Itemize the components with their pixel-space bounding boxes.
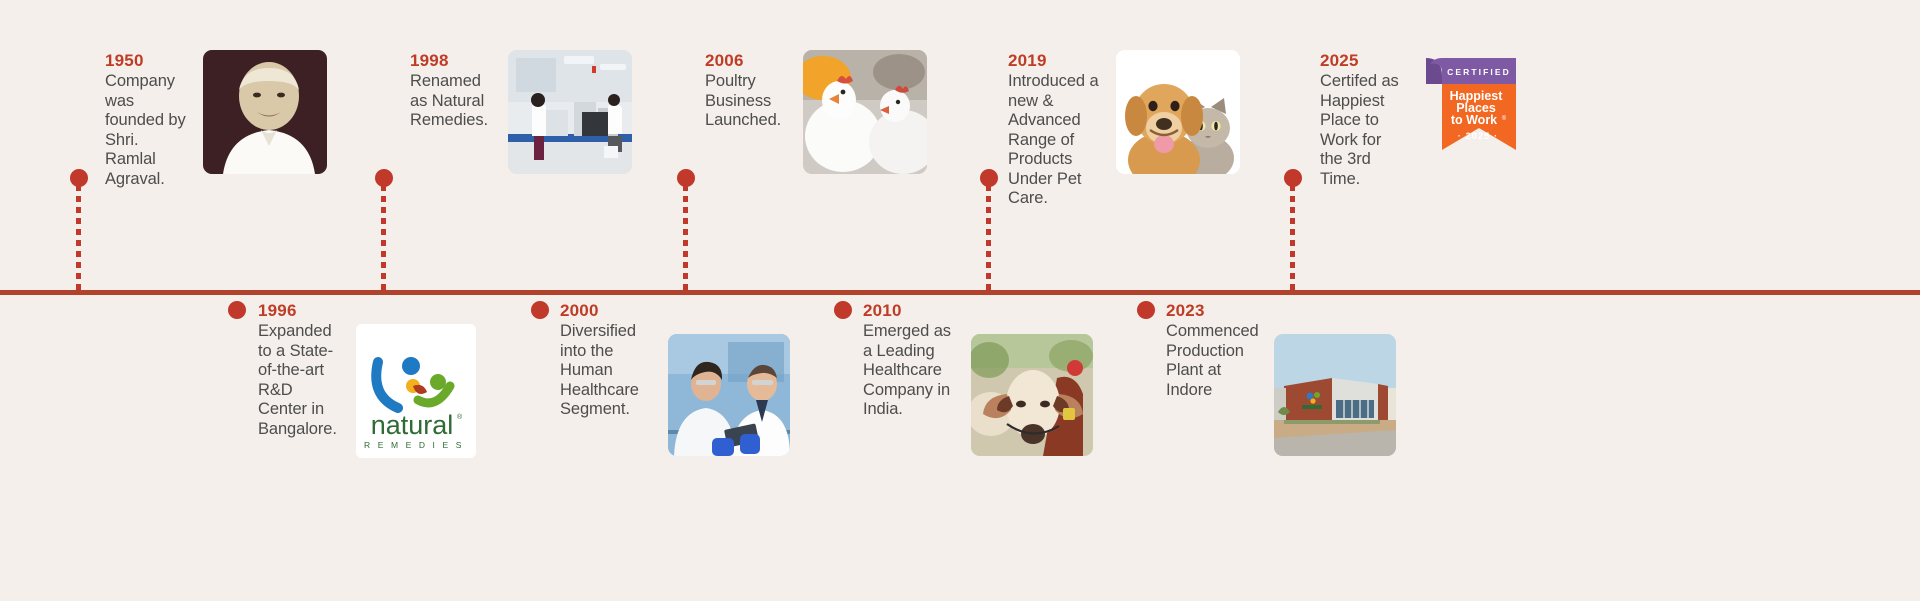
cattle-photo-image <box>971 334 1093 456</box>
milestone-2023-year: 2023 <box>1166 300 1262 321</box>
milestone-2000-year: 2000 <box>560 300 656 321</box>
timeline-dot-1996 <box>228 301 246 319</box>
milestone-1998-description: Renamed as Natural Remedies. <box>410 72 496 131</box>
natural-remedies-logo: natural ® R E M E D I E S <box>356 324 476 458</box>
milestone-2010[interactable]: 2010 Emerged as a Leading Healthcare Com… <box>863 300 1093 456</box>
logo-blue-dot <box>402 357 420 375</box>
timeline-stem-1998 <box>381 185 386 292</box>
timeline-dot-2010 <box>834 301 852 319</box>
milestone-1998[interactable]: 1998 Renamed as Natural Remedies. <box>410 50 632 174</box>
milestone-1996-year: 1996 <box>258 300 344 321</box>
timeline-stem-2025 <box>1290 185 1295 292</box>
milestone-2019-year: 2019 <box>1008 50 1104 71</box>
milestone-2006-description: Poultry Business Launched. <box>705 72 791 131</box>
milestone-1996-text: 1996 Expanded to a State-of-the-art R&D … <box>258 300 344 439</box>
milestone-1950-year: 1950 <box>105 50 191 71</box>
milestone-1996[interactable]: 1996 Expanded to a State-of-the-art R&D … <box>258 300 476 458</box>
milestone-2006-text: 2006 Poultry Business Launched. <box>705 50 791 131</box>
milestone-2000-text: 2000 Diversified into the Human Healthca… <box>560 300 656 420</box>
timeline-connector-2010 <box>834 295 852 319</box>
pets-photo-image <box>1116 50 1240 174</box>
logo-green-dot <box>430 374 446 390</box>
timeline-stem-1950 <box>76 185 81 292</box>
badge-year-label: · 2025 · <box>1458 131 1499 141</box>
milestone-2006-year: 2006 <box>705 50 791 71</box>
logo-wordmark: natural <box>371 410 454 440</box>
logo-registered-mark: ® <box>457 413 463 421</box>
portrait-founder-image <box>203 50 327 174</box>
milestone-2000-description: Diversified into the Human Healthcare Se… <box>560 322 656 420</box>
timeline-connector-1996 <box>228 295 246 319</box>
milestone-1998-year: 1998 <box>410 50 496 71</box>
laboratory-photo-image <box>508 50 632 174</box>
milestone-2019[interactable]: 2019 Introduced a new & Advanced Range o… <box>1008 50 1240 209</box>
milestone-2000[interactable]: 2000 Diversified into the Human Healthca… <box>560 300 790 456</box>
plant-building-photo-image <box>1274 334 1396 456</box>
logo-subtitle: R E M E D I E S <box>364 440 464 450</box>
milestone-2019-description: Introduced a new & Advanced Range of Pro… <box>1008 72 1104 209</box>
timeline-connector-2000 <box>531 295 549 319</box>
milestone-2023[interactable]: 2023 Commenced Production Plant at Indor… <box>1166 300 1396 456</box>
milestone-2010-description: Emerged as a Leading Healthcare Company … <box>863 322 959 420</box>
milestone-1950-description: Company was founded by Shri. Ramlal Agra… <box>105 72 191 189</box>
milestone-2019-text: 2019 Introduced a new & Advanced Range o… <box>1008 50 1104 209</box>
milestone-1950[interactable]: 1950 Company was founded by Shri. Ramlal… <box>105 50 327 189</box>
timeline-stem-2019 <box>986 185 991 292</box>
milestone-2023-text: 2023 Commenced Production Plant at Indor… <box>1166 300 1262 400</box>
timeline-connector-2023 <box>1137 295 1155 319</box>
badge-line3: to Work <box>1451 113 1497 127</box>
timeline-dot-2023 <box>1137 301 1155 319</box>
milestone-2025[interactable]: 2025 Certifed as Happiest Place to Work … <box>1320 50 1522 189</box>
milestone-1996-description: Expanded to a State-of-the-art R&D Cente… <box>258 322 344 439</box>
milestone-1950-text: 1950 Company was founded by Shri. Ramlal… <box>105 50 191 189</box>
happiest-places-badge: CERTIFIED Happiest Places to Work ® · 20… <box>1418 50 1522 172</box>
milestone-2023-description: Commenced Production Plant at Indore <box>1166 322 1262 400</box>
milestone-1998-text: 1998 Renamed as Natural Remedies. <box>410 50 496 131</box>
milestone-2006[interactable]: 2006 Poultry Business Launched. <box>705 50 927 174</box>
milestone-2025-description: Certifed as Happiest Place to Work for t… <box>1320 72 1406 189</box>
timeline-infographic: 1950 Company was founded by Shri. Ramlal… <box>0 0 1920 601</box>
milestone-2025-year: 2025 <box>1320 50 1406 71</box>
milestone-2010-text: 2010 Emerged as a Leading Healthcare Com… <box>863 300 959 420</box>
badge-certified-label: CERTIFIED <box>1447 67 1511 77</box>
timeline-stem-2006 <box>683 185 688 292</box>
milestone-2025-text: 2025 Certifed as Happiest Place to Work … <box>1320 50 1406 189</box>
timeline-axis <box>0 290 1920 295</box>
milestone-2010-year: 2010 <box>863 300 959 321</box>
poultry-photo-image <box>803 50 927 174</box>
scientists-photo-image <box>668 334 790 456</box>
badge-registered-mark: ® <box>1502 115 1507 122</box>
timeline-dot-2000 <box>531 301 549 319</box>
